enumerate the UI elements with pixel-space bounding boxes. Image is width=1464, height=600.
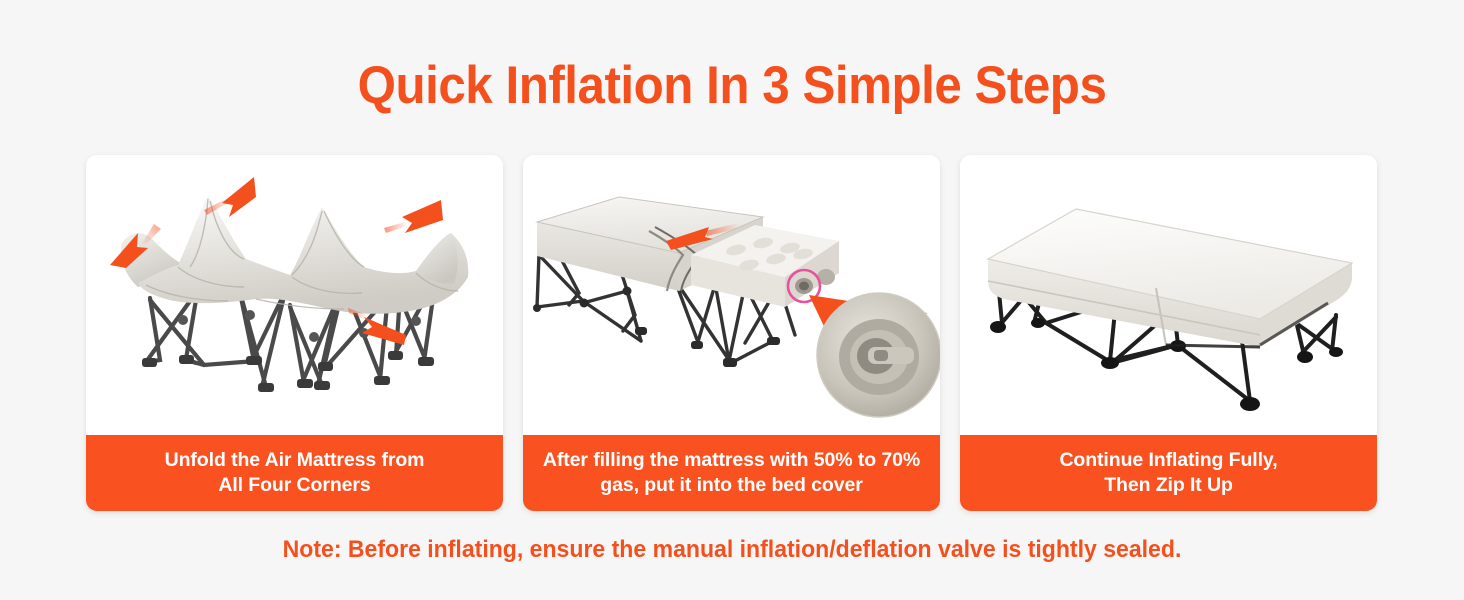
steps-container: Unfold the Air Mattress from All Four Co… [86, 155, 1378, 511]
step-card-1: Unfold the Air Mattress from All Four Co… [86, 155, 503, 511]
step-2-caption: After filling the mattress with 50% to 7… [523, 435, 940, 511]
step-1-image [86, 155, 503, 435]
step-card-2: After filling the mattress with 50% to 7… [523, 155, 940, 511]
unfold-illustration [86, 155, 503, 435]
step-3-image [960, 155, 1377, 435]
inflated-bed-illustration [960, 155, 1377, 435]
page-title: Quick Inflation In 3 Simple Steps [51, 58, 1413, 114]
step-card-3: Continue Inflating Fully, Then Zip It Up [960, 155, 1377, 511]
footer-note: Note: Before inflating, ensure the manua… [29, 536, 1434, 564]
infographic-root: Quick Inflation In 3 Simple Steps [0, 0, 1464, 600]
insert-mattress-illustration [523, 155, 940, 435]
zip-line [1166, 345, 1260, 347]
step-3-caption: Continue Inflating Fully, Then Zip It Up [960, 435, 1377, 511]
step-2-image [523, 155, 940, 435]
step-1-caption: Unfold the Air Mattress from All Four Co… [86, 435, 503, 511]
